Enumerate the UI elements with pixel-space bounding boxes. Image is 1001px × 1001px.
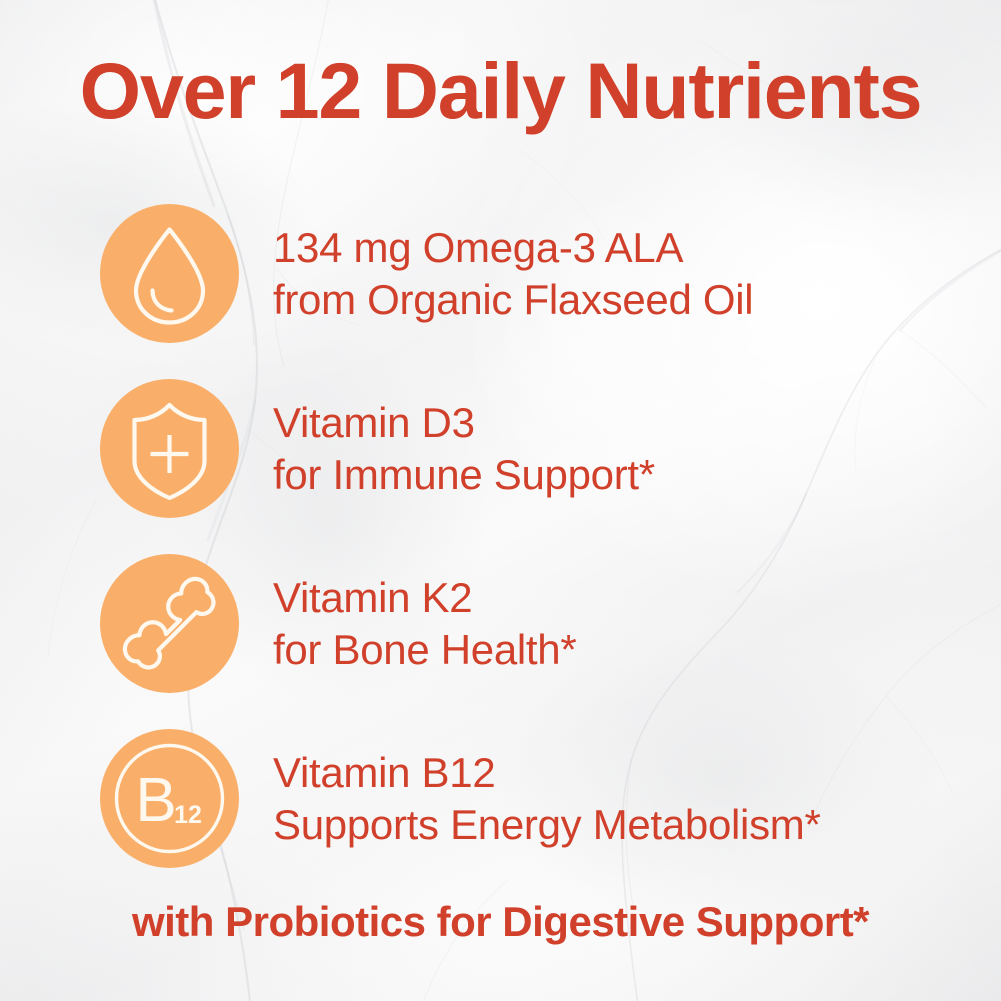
shield-plus-icon [100, 379, 239, 518]
nutrient-icon-badge [100, 379, 239, 518]
nutrient-line-1: Vitamin K2 [273, 572, 576, 624]
nutrient-text: Vitamin K2 for Bone Health* [273, 572, 576, 675]
nutrient-text: Vitamin B12 Supports Energy Metabolism* [273, 747, 821, 850]
nutrient-icon-badge [100, 554, 239, 693]
nutrient-icon-badge: B 12 [100, 729, 239, 868]
nutrient-line-1: Vitamin B12 [273, 747, 821, 799]
nutrient-list: 134 mg Omega-3 ALA from Organic Flaxseed… [0, 186, 1001, 886]
nutrient-line-2: Supports Energy Metabolism* [273, 799, 821, 851]
nutrient-icon-badge [100, 204, 239, 343]
nutrient-infographic: Over 12 Daily Nutrients 134 mg Omega-3 A… [0, 0, 1001, 1001]
b12-subscript: 12 [174, 801, 202, 829]
nutrient-line-2: for Bone Health* [273, 624, 576, 676]
b12-letter: B [135, 766, 176, 835]
b12-ring-icon: B 12 [100, 729, 239, 868]
nutrient-line-1: 134 mg Omega-3 ALA [273, 222, 753, 274]
nutrient-line-1: Vitamin D3 [273, 397, 655, 449]
bone-icon [100, 554, 239, 693]
nutrient-text: 134 mg Omega-3 ALA from Organic Flaxseed… [273, 222, 753, 325]
water-drop-icon [100, 204, 239, 343]
list-item: Vitamin K2 for Bone Health* [0, 536, 1001, 711]
list-item: 134 mg Omega-3 ALA from Organic Flaxseed… [0, 186, 1001, 361]
list-item: Vitamin D3 for Immune Support* [0, 361, 1001, 536]
footer-note: with Probiotics for Digestive Support* [0, 898, 1001, 946]
nutrient-line-2: from Organic Flaxseed Oil [273, 274, 753, 326]
page-title: Over 12 Daily Nutrients [0, 48, 1001, 133]
nutrient-line-2: for Immune Support* [273, 449, 655, 501]
list-item: B 12 Vitamin B12 Supports Energy Metabol… [0, 711, 1001, 886]
nutrient-text: Vitamin D3 for Immune Support* [273, 397, 655, 500]
